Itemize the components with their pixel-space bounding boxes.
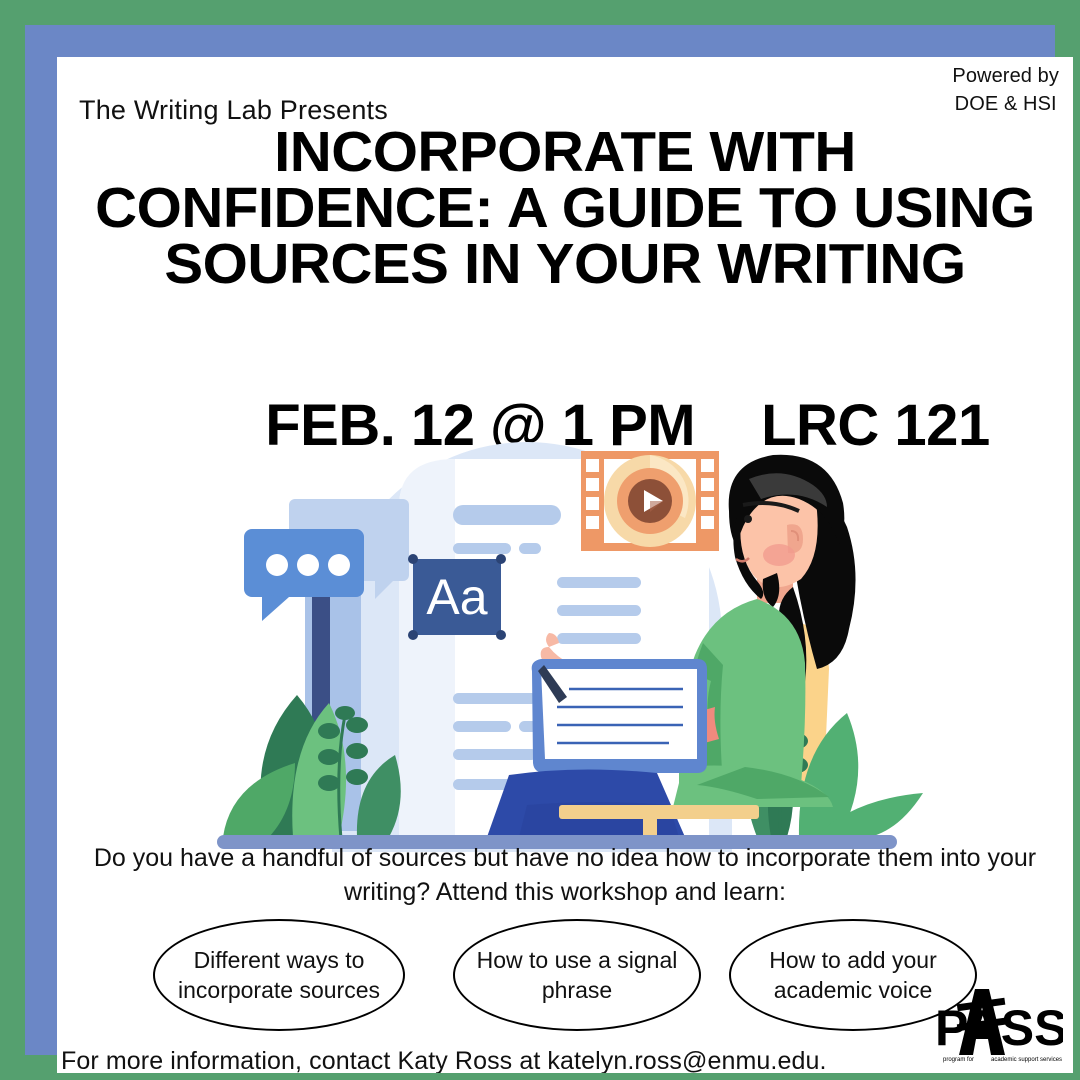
- benefit-bubble-2: How to use a signal phrase: [453, 919, 701, 1031]
- powered-by-line-2: DOE & HSI: [952, 91, 1059, 119]
- pass-logo: PASS program for academic support servic…: [931, 983, 1063, 1065]
- hero-illustration: Aa: [57, 407, 1073, 857]
- blue-border-frame: Powered by DOE & HSI The Writing Lab Pre…: [25, 25, 1055, 1055]
- pass-tagline-right: academic support services: [991, 1057, 1062, 1063]
- benefits-row: Different ways to incorporate sources Ho…: [137, 919, 1007, 1031]
- benefit-bubble-1-label: Different ways to incorporate sources: [171, 945, 387, 1006]
- video-player-icon: [581, 451, 719, 551]
- benefit-bubble-2-label: How to use a signal phrase: [471, 945, 683, 1006]
- tablet-device: [532, 659, 707, 773]
- aa-label: Aa: [426, 569, 487, 625]
- pass-tagline-left: program for: [943, 1057, 974, 1063]
- powered-by-line-1: Powered by: [952, 63, 1059, 91]
- page-title: INCORPORATE WITH CONFIDENCE: A GUIDE TO …: [77, 125, 1052, 293]
- benefit-bubble-1: Different ways to incorporate sources: [153, 919, 405, 1031]
- benefit-bubble-3-label: How to add your academic voice: [747, 945, 959, 1006]
- lead-paragraph: Do you have a handful of sources but hav…: [93, 842, 1037, 909]
- powered-by-block: Powered by DOE & HSI: [952, 63, 1059, 118]
- flyer-canvas: Powered by DOE & HSI The Writing Lab Pre…: [57, 57, 1073, 1073]
- flyer-root: Powered by DOE & HSI The Writing Lab Pre…: [0, 0, 1080, 1080]
- typography-aa-box: Aa: [408, 554, 506, 640]
- table-top: [559, 805, 759, 819]
- contact-line: For more information, contact Katy Ross …: [61, 1047, 827, 1073]
